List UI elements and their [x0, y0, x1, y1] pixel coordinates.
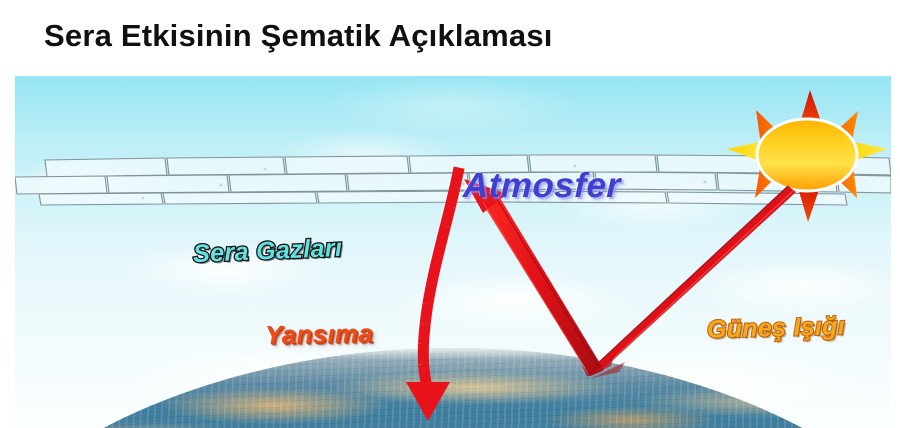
trapped-ray-arrow-icon [464, 179, 625, 378]
label-sunlight: Güneş Işığı [707, 314, 846, 343]
label-atmosphere: Atmosfer [462, 168, 621, 203]
reflection-arrow-icon [406, 173, 458, 421]
label-greenhouse-gases: Sera Gazları [193, 236, 343, 267]
label-reflection: Yansıma [265, 320, 374, 348]
sun-disc [757, 119, 857, 191]
title-bar: Sera Etkisinin Şematik Açıklaması [0, 0, 900, 72]
diagram-overlay [15, 76, 891, 428]
sunlight-arrow-icon [590, 186, 796, 376]
reflection-arrow-head [406, 382, 450, 421]
page-title: Sera Etkisinin Şematik Açıklaması [44, 18, 553, 54]
greenhouse-effect-diagram: Atmosfer Sera Gazları Yansıma Güneş Işığ… [15, 76, 891, 428]
